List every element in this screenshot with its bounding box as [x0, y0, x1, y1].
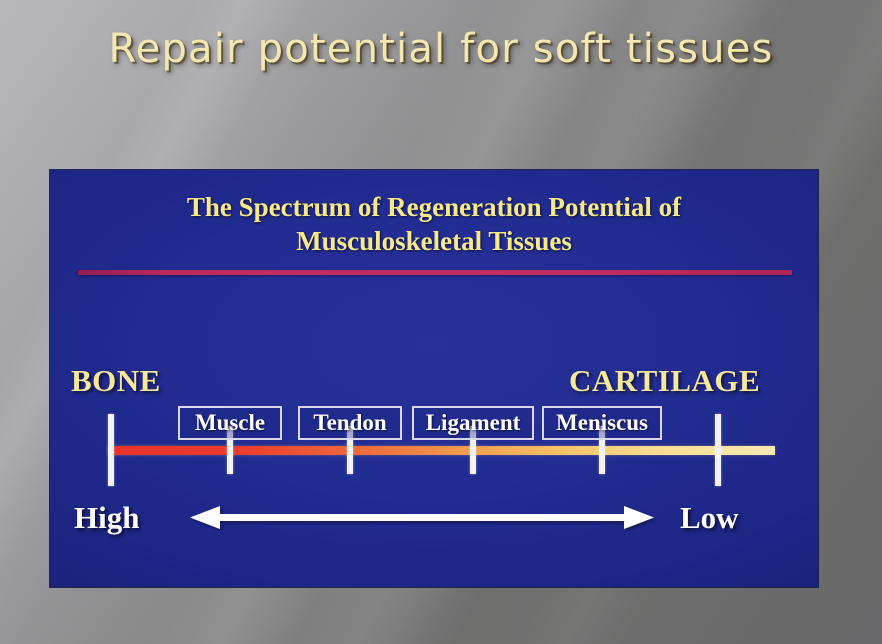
tissue-box-muscle: Muscle [178, 406, 282, 440]
spectrum-gradient-bar [108, 446, 775, 455]
figure-panel: The Spectrum of Regeneration Potential o… [50, 170, 818, 587]
double-headed-arrow-icon [190, 500, 654, 536]
axis-end-label-cartilage: CARTILAGE [569, 363, 760, 399]
title-divider-rule [78, 270, 792, 275]
axis-end-tick-right [715, 414, 721, 486]
axis-end-tick-left [108, 414, 114, 486]
figure-title-line-2: Musculoskeletal Tissues [50, 226, 818, 257]
tissue-box-tendon: Tendon [298, 406, 402, 440]
tissue-box-meniscus: Meniscus [542, 406, 662, 440]
tissue-box-ligament: Ligament [412, 406, 534, 440]
scale-label-low: Low [680, 500, 739, 536]
scale-label-high: High [74, 500, 139, 536]
axis-end-label-bone: BONE [71, 363, 161, 399]
page-title: Repair potential for soft tissues [0, 26, 882, 72]
figure-title-line-1: The Spectrum of Regeneration Potential o… [50, 192, 818, 223]
slide: Repair potential for soft tissues The Sp… [0, 0, 882, 644]
